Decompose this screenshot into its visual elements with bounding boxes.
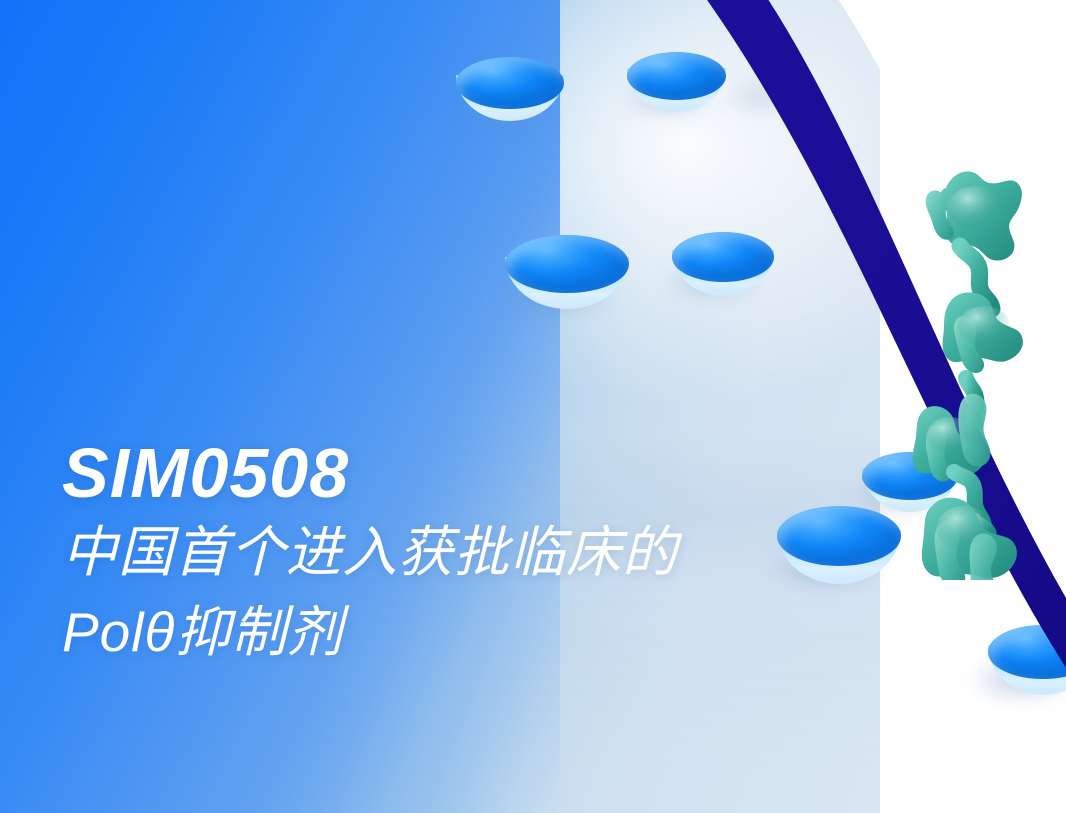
subtitle-line-1: 中国首个进入获批临床的 bbox=[62, 514, 862, 590]
page-title: SIM0508 bbox=[62, 432, 862, 514]
poster-canvas: SIM0508 中国首个进入获批临床的 Polθ抑制剂 bbox=[0, 0, 1066, 813]
pill-3 bbox=[718, 70, 802, 118]
pill-cap bbox=[627, 52, 726, 100]
pill-4 bbox=[505, 235, 629, 307]
pill-5 bbox=[672, 232, 774, 294]
pill-cap bbox=[672, 232, 774, 282]
pill-8 bbox=[988, 625, 1066, 693]
pill-2 bbox=[627, 52, 726, 110]
pill-cap bbox=[505, 235, 629, 293]
pill-1 bbox=[456, 57, 564, 119]
subtitle-line-2: Polθ抑制剂 bbox=[62, 594, 862, 670]
pill-cap bbox=[862, 452, 958, 500]
headline-block: SIM0508 中国首个进入获批临床的 Polθ抑制剂 bbox=[62, 432, 862, 670]
pill-cap bbox=[456, 57, 564, 109]
pill-shadow bbox=[712, 76, 808, 118]
pill-6 bbox=[862, 452, 958, 510]
